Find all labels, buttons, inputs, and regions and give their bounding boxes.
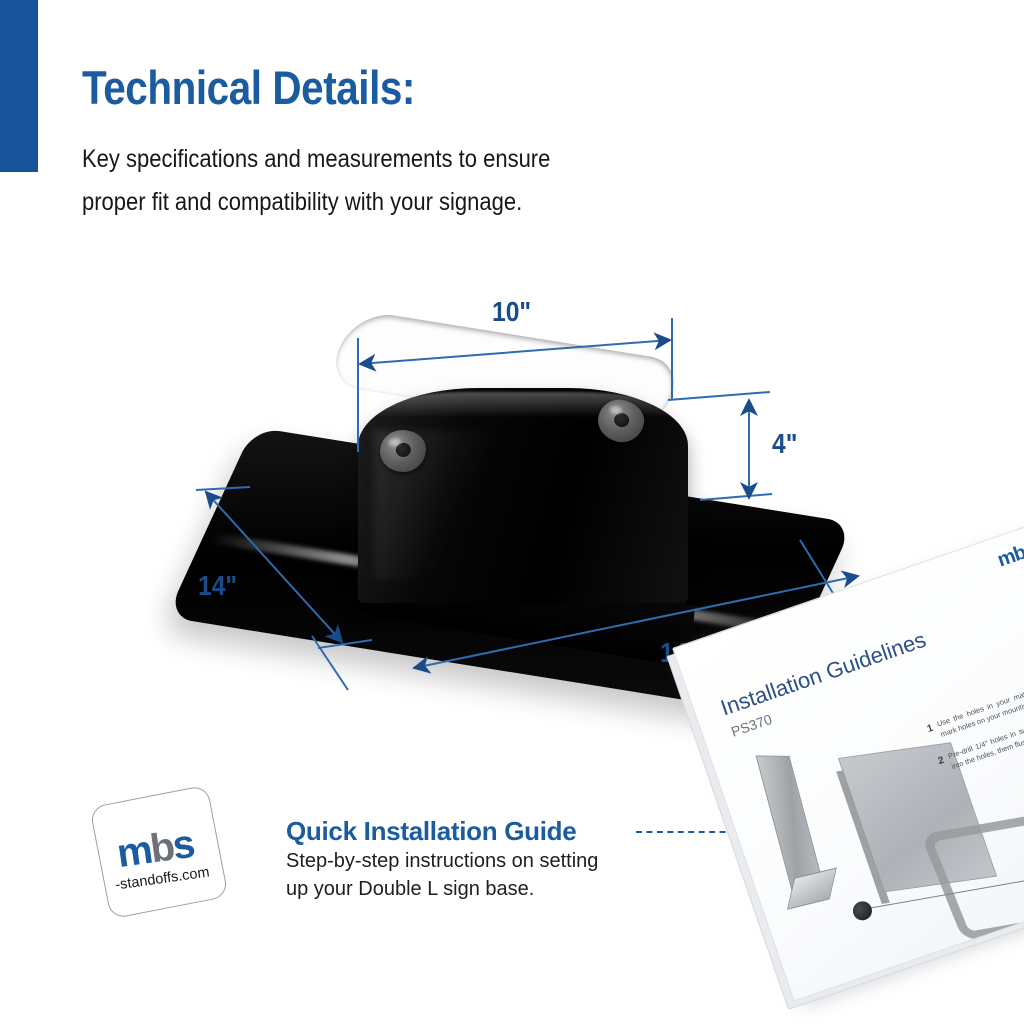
- technical-details-page: Technical Details: Key specifications an…: [0, 0, 1024, 1024]
- document-title: Installation Guidelines: [717, 627, 929, 722]
- dimension-label-width-top: 10": [492, 296, 531, 328]
- connector-dashed-line: [636, 831, 736, 833]
- document-steps: 1 Use the holes in your material as a te…: [925, 664, 1024, 786]
- dimension-label-height-right: 4": [772, 428, 797, 460]
- document-logo: mbs: [995, 538, 1024, 572]
- page-subtitle: Key specifications and measurements to e…: [82, 138, 550, 224]
- quick-guide-title: Quick Installation Guide: [286, 816, 576, 847]
- step-number: 1: [925, 721, 935, 737]
- mbs-logo: mbs -standoffs.com: [95, 793, 227, 913]
- accent-bar: [0, 0, 38, 172]
- dimension-label-depth-left: 14": [198, 570, 237, 602]
- page-title: Technical Details:: [82, 64, 415, 111]
- quick-guide-body: Step-by-step instructions on setting up …: [286, 847, 598, 904]
- logo-wordmark: mbs: [115, 824, 196, 874]
- illustration-extrusion: [756, 756, 826, 891]
- illustration-knob: [850, 899, 874, 923]
